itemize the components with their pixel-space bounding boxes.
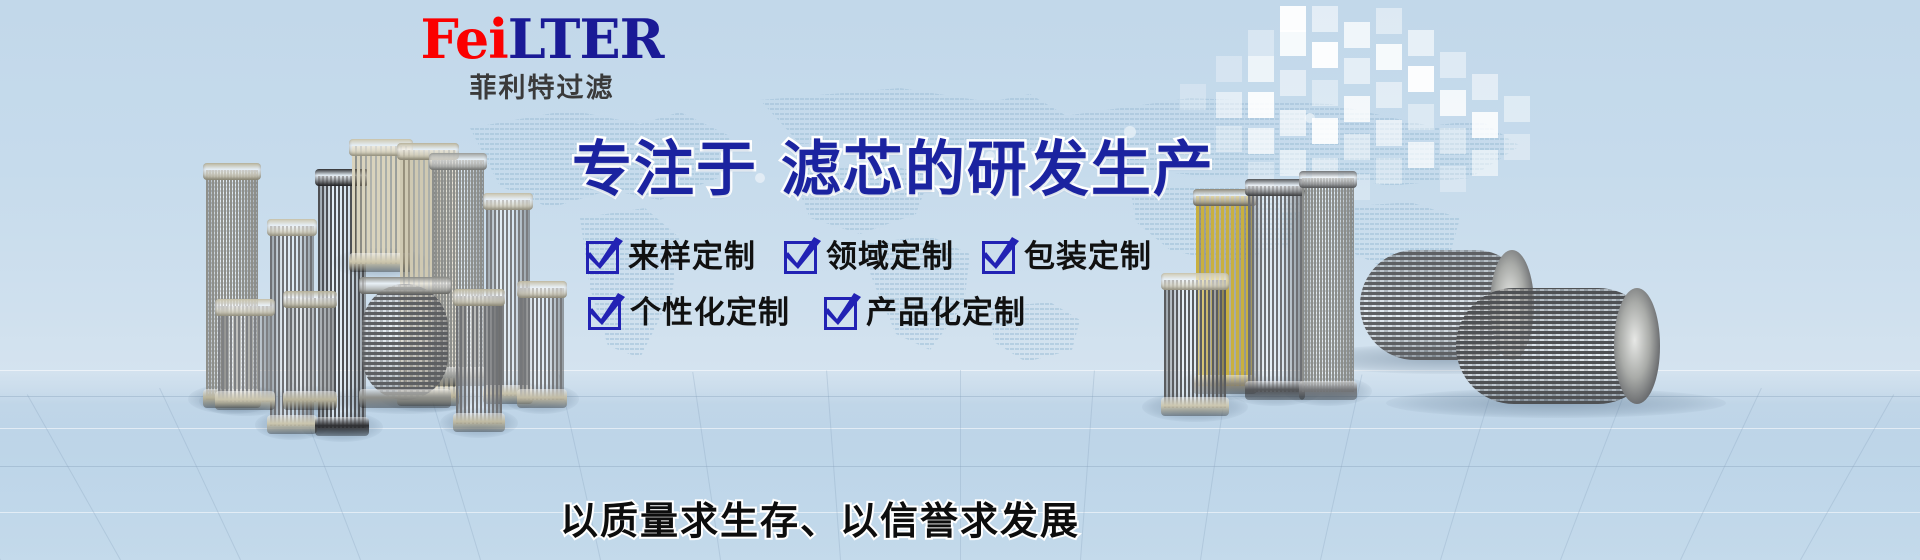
feature-item-laiyang: 来样定制 bbox=[586, 240, 756, 274]
cartridge-end-cap-bottom bbox=[1161, 397, 1229, 416]
checkbox-checked-icon bbox=[982, 241, 1015, 274]
checkbox-checked-icon bbox=[784, 241, 817, 274]
logo-wordmark: FeiLTER bbox=[392, 8, 692, 70]
cartridge-end-cap-bottom bbox=[1245, 381, 1305, 400]
feilter-logo: FeiLTER 菲利特过滤 bbox=[392, 8, 692, 106]
cartridge-end-cap-ring bbox=[1614, 288, 1660, 404]
feature-item-chanpinhua: 产品化定制 bbox=[824, 296, 1026, 330]
feature-label: 产品化定制 bbox=[866, 296, 1026, 330]
cartridge-end-cap-top bbox=[1299, 171, 1357, 188]
feature-item-baozhuang: 包装定制 bbox=[982, 240, 1152, 274]
filter-cartridge bbox=[1456, 288, 1656, 404]
feature-label: 个性化定制 bbox=[630, 296, 790, 330]
logo-word-lter: LTER bbox=[508, 7, 664, 71]
feature-label: 领域定制 bbox=[826, 240, 954, 274]
logo-word-fei: Fei bbox=[420, 7, 507, 71]
cartridge-end-cap-top bbox=[1245, 179, 1305, 196]
feature-item-lingyu: 领域定制 bbox=[784, 240, 954, 274]
checkbox-checked-icon bbox=[586, 241, 619, 274]
feature-list: 来样定制 领域定制 包装定制 bbox=[586, 240, 1226, 352]
cartridge-mesh bbox=[1248, 186, 1302, 392]
logo-subtitle: 菲利特过滤 bbox=[392, 72, 692, 106]
checkbox-checked-icon bbox=[588, 297, 621, 330]
promotional-banner: FeiLTER 菲利特过滤 专注于 滤芯的研发生产 来样定制 领 bbox=[0, 0, 1920, 560]
feature-label: 来样定制 bbox=[628, 240, 756, 274]
feature-item-gexinghua: 个性化定制 bbox=[588, 296, 790, 330]
feature-row-2: 个性化定制 产品化定制 bbox=[586, 296, 1226, 330]
filter-cartridge bbox=[1302, 178, 1354, 392]
feature-label: 包装定制 bbox=[1024, 240, 1152, 274]
headline-text: 专注于 滤芯的研发生产 bbox=[572, 134, 1215, 206]
checkbox-checked-icon bbox=[824, 297, 857, 330]
filter-cartridge bbox=[1248, 186, 1302, 392]
feature-row-1: 来样定制 领域定制 包装定制 bbox=[586, 240, 1226, 274]
cartridge-end-cap-bottom bbox=[1299, 381, 1357, 400]
cartridge-mesh bbox=[1302, 178, 1354, 392]
company-slogan: 以质量求生存、以信誉求发展 bbox=[560, 498, 1080, 544]
